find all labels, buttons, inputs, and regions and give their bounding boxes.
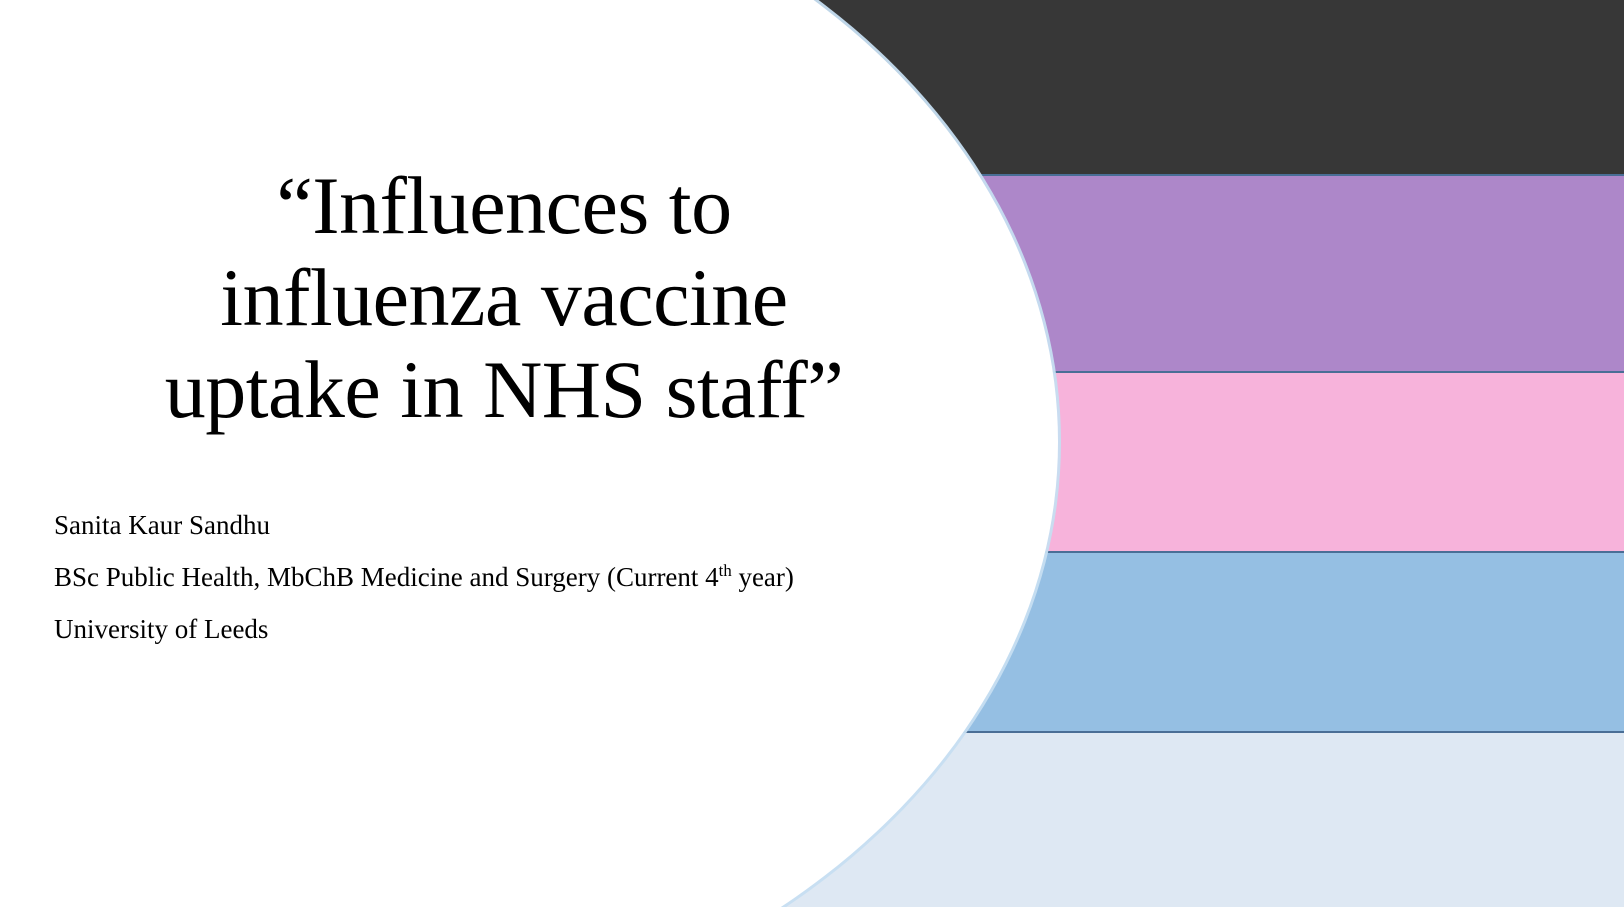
title-slide: “Influences to influenza vaccine uptake … — [0, 0, 1624, 907]
slide-content: “Influences to influenza vaccine uptake … — [0, 0, 1624, 907]
title-line-2: influenza vaccine — [220, 252, 787, 343]
title-line-1: “Influences to — [276, 160, 731, 251]
author-name: Sanita Kaur Sandhu — [54, 512, 1034, 539]
author-institution: University of Leeds — [54, 616, 1034, 643]
title-line-3: uptake in NHS staff” — [165, 344, 844, 435]
credentials-prefix: BSc Public Health, MbChB Medicine and Su… — [54, 562, 719, 592]
byline-block: Sanita Kaur Sandhu BSc Public Health, Mb… — [54, 512, 1034, 643]
author-credentials: BSc Public Health, MbChB Medicine and Su… — [54, 564, 1034, 591]
credentials-suffix: year) — [732, 562, 794, 592]
credentials-ordinal-suffix: th — [719, 561, 732, 580]
page-title: “Influences to influenza vaccine uptake … — [54, 160, 954, 435]
